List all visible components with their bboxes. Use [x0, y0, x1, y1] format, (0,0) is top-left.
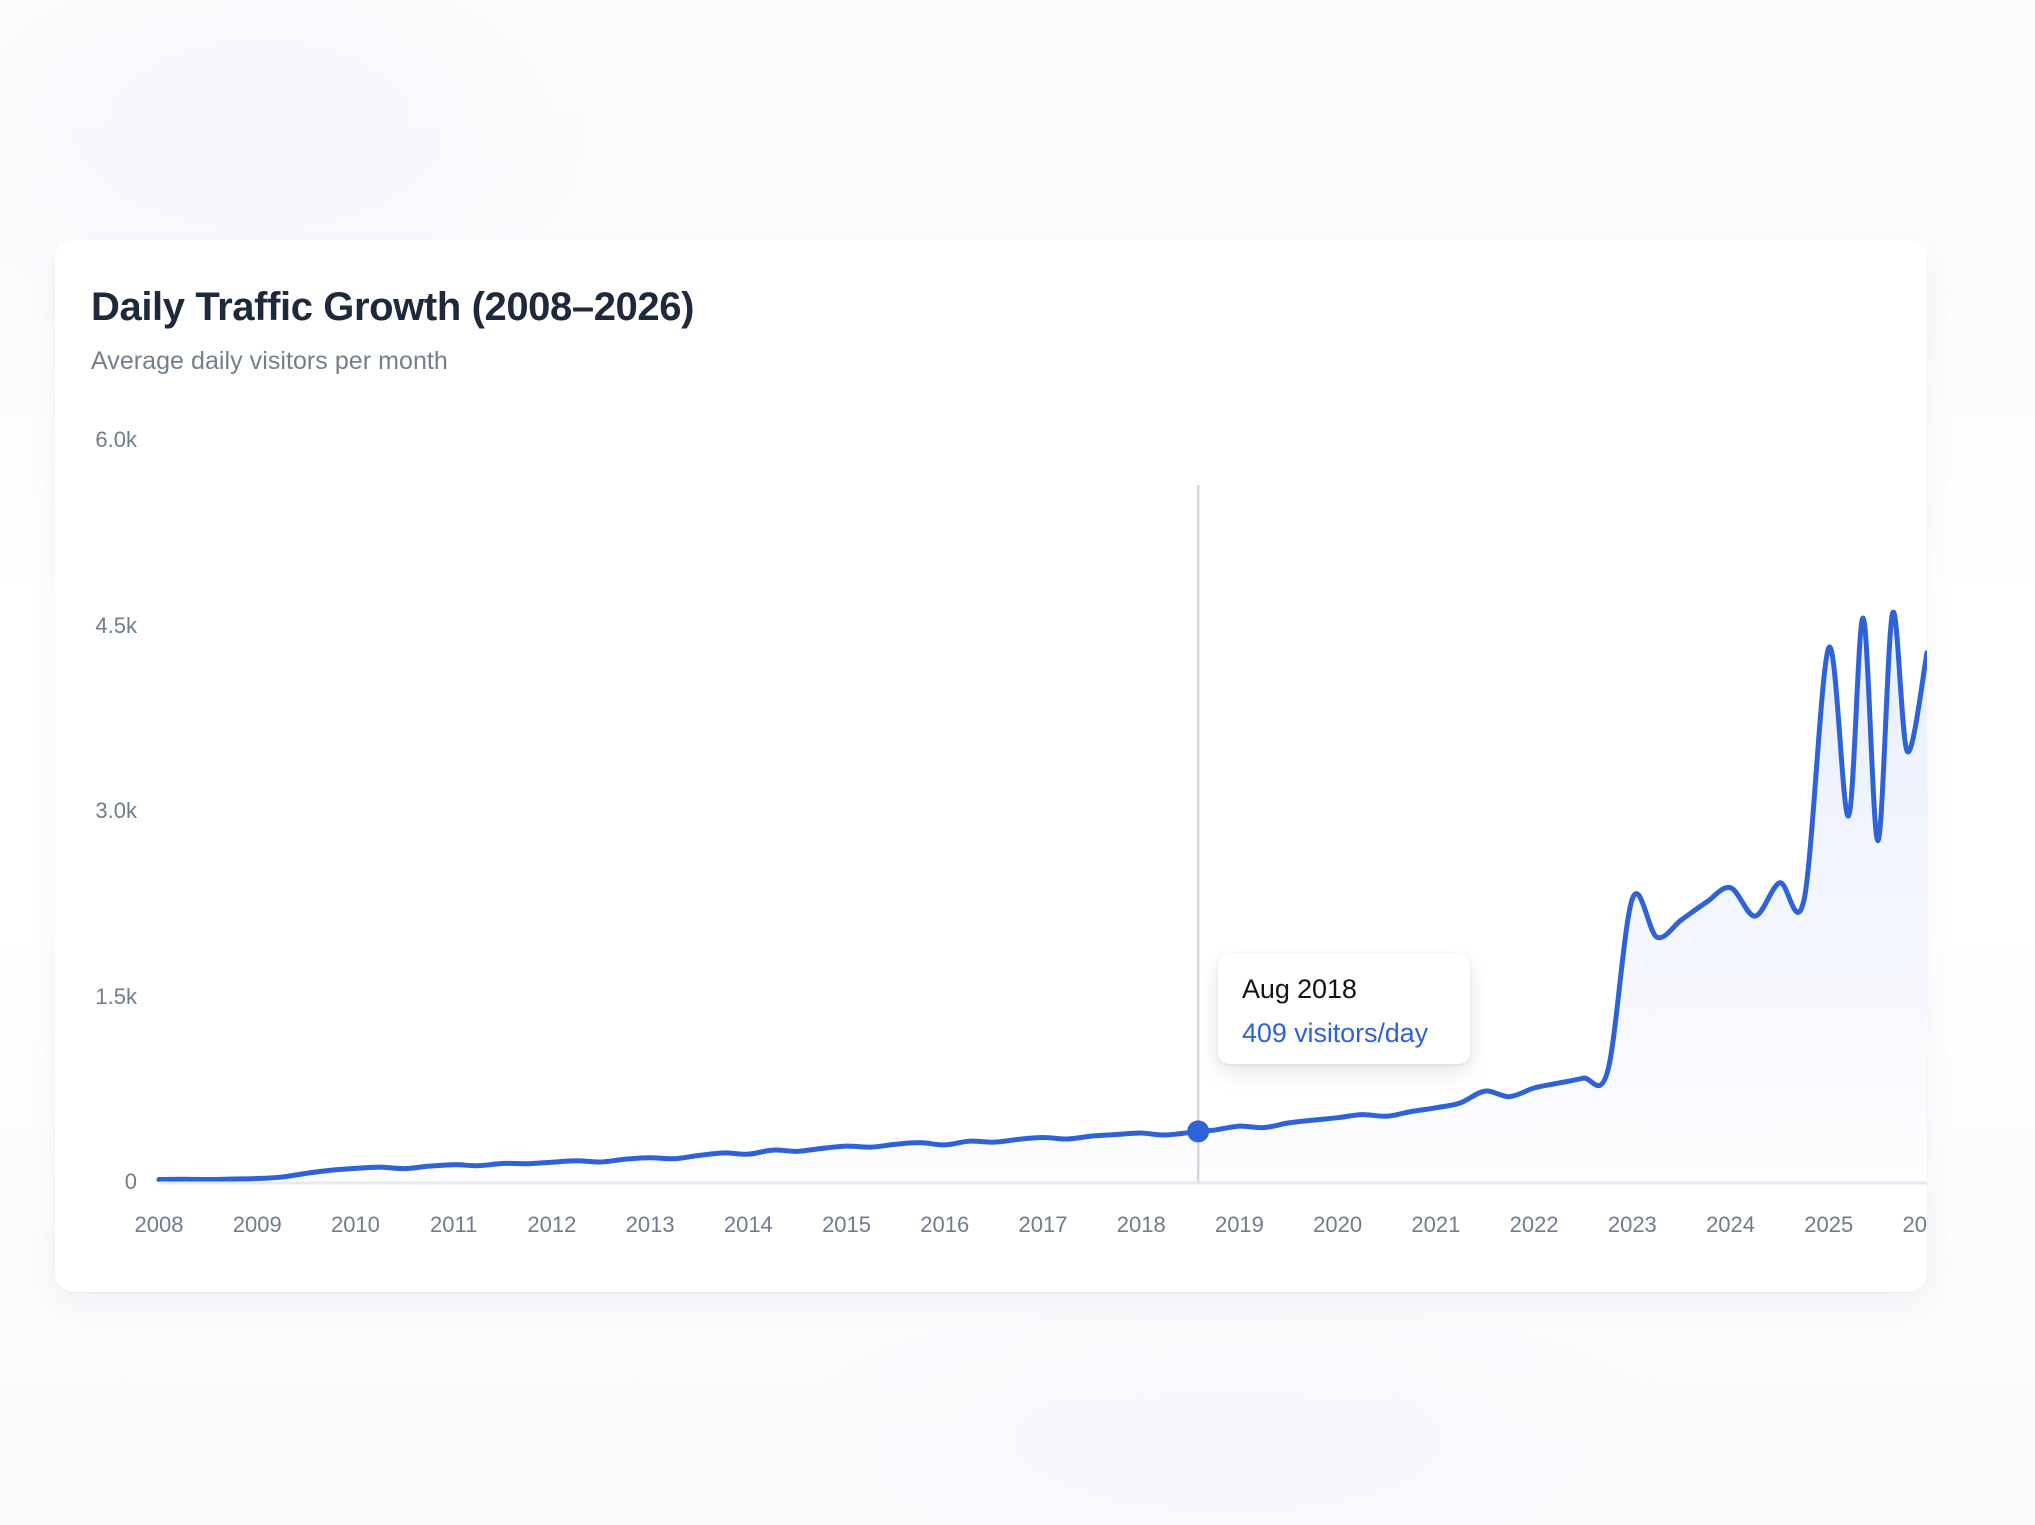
x-axis-tick-label: 2015	[822, 1212, 871, 1238]
chart-tooltip: Aug 2018 409 visitors/day	[1218, 954, 1470, 1064]
y-axis-tick-label: 6.0k	[55, 427, 137, 453]
x-axis-tick-label: 2010	[331, 1212, 380, 1238]
area-fill	[159, 612, 1927, 1182]
x-axis-tick-label: 2014	[724, 1212, 773, 1238]
chart-plot-area[interactable]: 01.5k3.0k4.5k6.0k 2008200920102011201220…	[55, 240, 1927, 1292]
x-axis-tick-label: 2018	[1117, 1212, 1166, 1238]
line-chart-svg[interactable]	[55, 240, 1927, 1292]
y-axis-tick-label: 3.0k	[55, 798, 137, 824]
x-axis-tick-label: 2013	[626, 1212, 675, 1238]
x-axis-tick-label: 2009	[233, 1212, 282, 1238]
x-axis-tick-label: 2025	[1804, 1212, 1853, 1238]
x-axis-tick-label: 2022	[1510, 1212, 1559, 1238]
page-root: Daily Traffic Growth (2008–2026) Average…	[0, 0, 2035, 1525]
tooltip-value-label: 409 visitors/day	[1242, 1018, 1470, 1049]
x-axis-tick-label: 2021	[1411, 1212, 1460, 1238]
x-axis-tick-label: 2011	[430, 1212, 477, 1238]
x-axis-tick-label: 2019	[1215, 1212, 1264, 1238]
x-axis-tick-label: 2020	[1313, 1212, 1362, 1238]
x-axis-tick-label: 2024	[1706, 1212, 1755, 1238]
x-axis-tick-label: 2023	[1608, 1212, 1657, 1238]
y-axis-tick-label: 0	[55, 1169, 137, 1195]
x-axis-tick-label: 2016	[920, 1212, 969, 1238]
x-axis-tick-label: 2017	[1019, 1212, 1068, 1238]
x-axis-tick-label: 2008	[135, 1212, 184, 1238]
marker-dot[interactable]	[1187, 1120, 1209, 1142]
chart-card: Daily Traffic Growth (2008–2026) Average…	[55, 240, 1927, 1292]
y-axis-tick-label: 1.5k	[55, 984, 137, 1010]
background-wash-bottom	[780, 1290, 1680, 1525]
highlight-marker	[1187, 1120, 1209, 1142]
y-axis-tick-label: 4.5k	[55, 613, 137, 639]
x-axis-tick-label: 2026	[1903, 1212, 1927, 1238]
x-axis-tick-label: 2012	[527, 1212, 576, 1238]
tooltip-date-label: Aug 2018	[1242, 974, 1470, 1005]
area-fill-path	[159, 612, 1927, 1182]
